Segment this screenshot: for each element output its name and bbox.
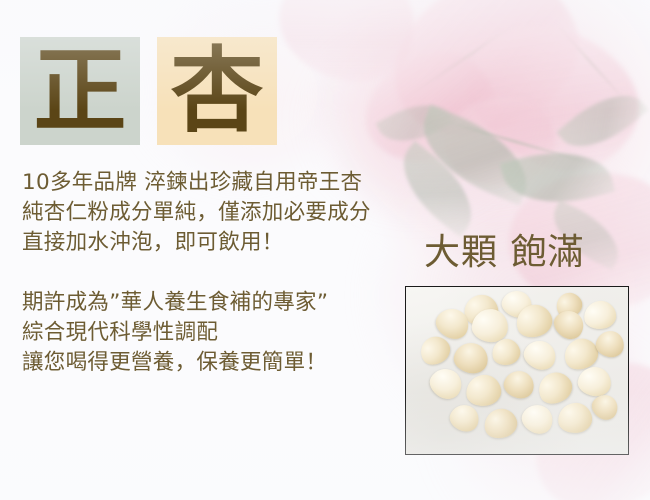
desc-line: 純杏仁粉成分單純，僅添加必要成分 [22, 198, 417, 228]
leaf-shape [556, 78, 648, 165]
desc-line: 讓您喝得更營養，保養更簡單！ [22, 348, 417, 378]
apricot-kernel [517, 400, 557, 439]
apricot-kernel [520, 336, 560, 374]
apricot-kernel [557, 401, 594, 434]
paragraph-gap [22, 258, 417, 288]
rose-petal [358, 46, 501, 168]
apricot-kernel [582, 299, 618, 331]
apricot-kernel [594, 329, 626, 359]
apricot-kernel [464, 372, 504, 409]
desc-line: 期許成為”華人養生食補的專家” [22, 288, 417, 318]
stem-shape [555, 23, 624, 99]
product-photo [405, 286, 629, 455]
logo-tile-zheng: 正 [20, 37, 140, 145]
rose-petal [439, 89, 560, 193]
leaf-shape [500, 138, 615, 217]
stem-shape [442, 119, 587, 163]
feature-heading: 大顆 飽滿 [424, 233, 584, 273]
apricot-kernel [451, 340, 490, 376]
promo-banner: 正 杏 10多年品牌 淬鍊出珍藏自用帝王杏 純杏仁粉成分單純，僅添加必要成分 直… [0, 0, 650, 500]
brand-logo: 正 杏 [20, 37, 277, 145]
rose-petal [260, 0, 434, 106]
product-photo-image [406, 287, 628, 454]
apricot-kernel [501, 367, 537, 401]
rose-petal [446, 2, 650, 193]
apricot-kernel [576, 365, 613, 398]
stem-shape [409, 27, 510, 97]
leaf-shape [376, 91, 455, 156]
logo-tile-xing: 杏 [157, 37, 277, 145]
apricot-kernel [480, 405, 520, 443]
desc-line: 10多年品牌 淬鍊出珍藏自用帝王杏 [22, 168, 417, 198]
rose-petal [371, 0, 598, 156]
desc-line: 直接加水沖泡，即可飲用！ [22, 228, 417, 258]
leaf-shape [408, 105, 542, 206]
desc-line: 綜合現代科學性調配 [22, 318, 417, 348]
apricot-kernel [446, 401, 482, 435]
description-text: 10多年品牌 淬鍊出珍藏自用帝王杏 純杏仁粉成分單純，僅添加必要成分 直接加水沖… [22, 168, 417, 378]
